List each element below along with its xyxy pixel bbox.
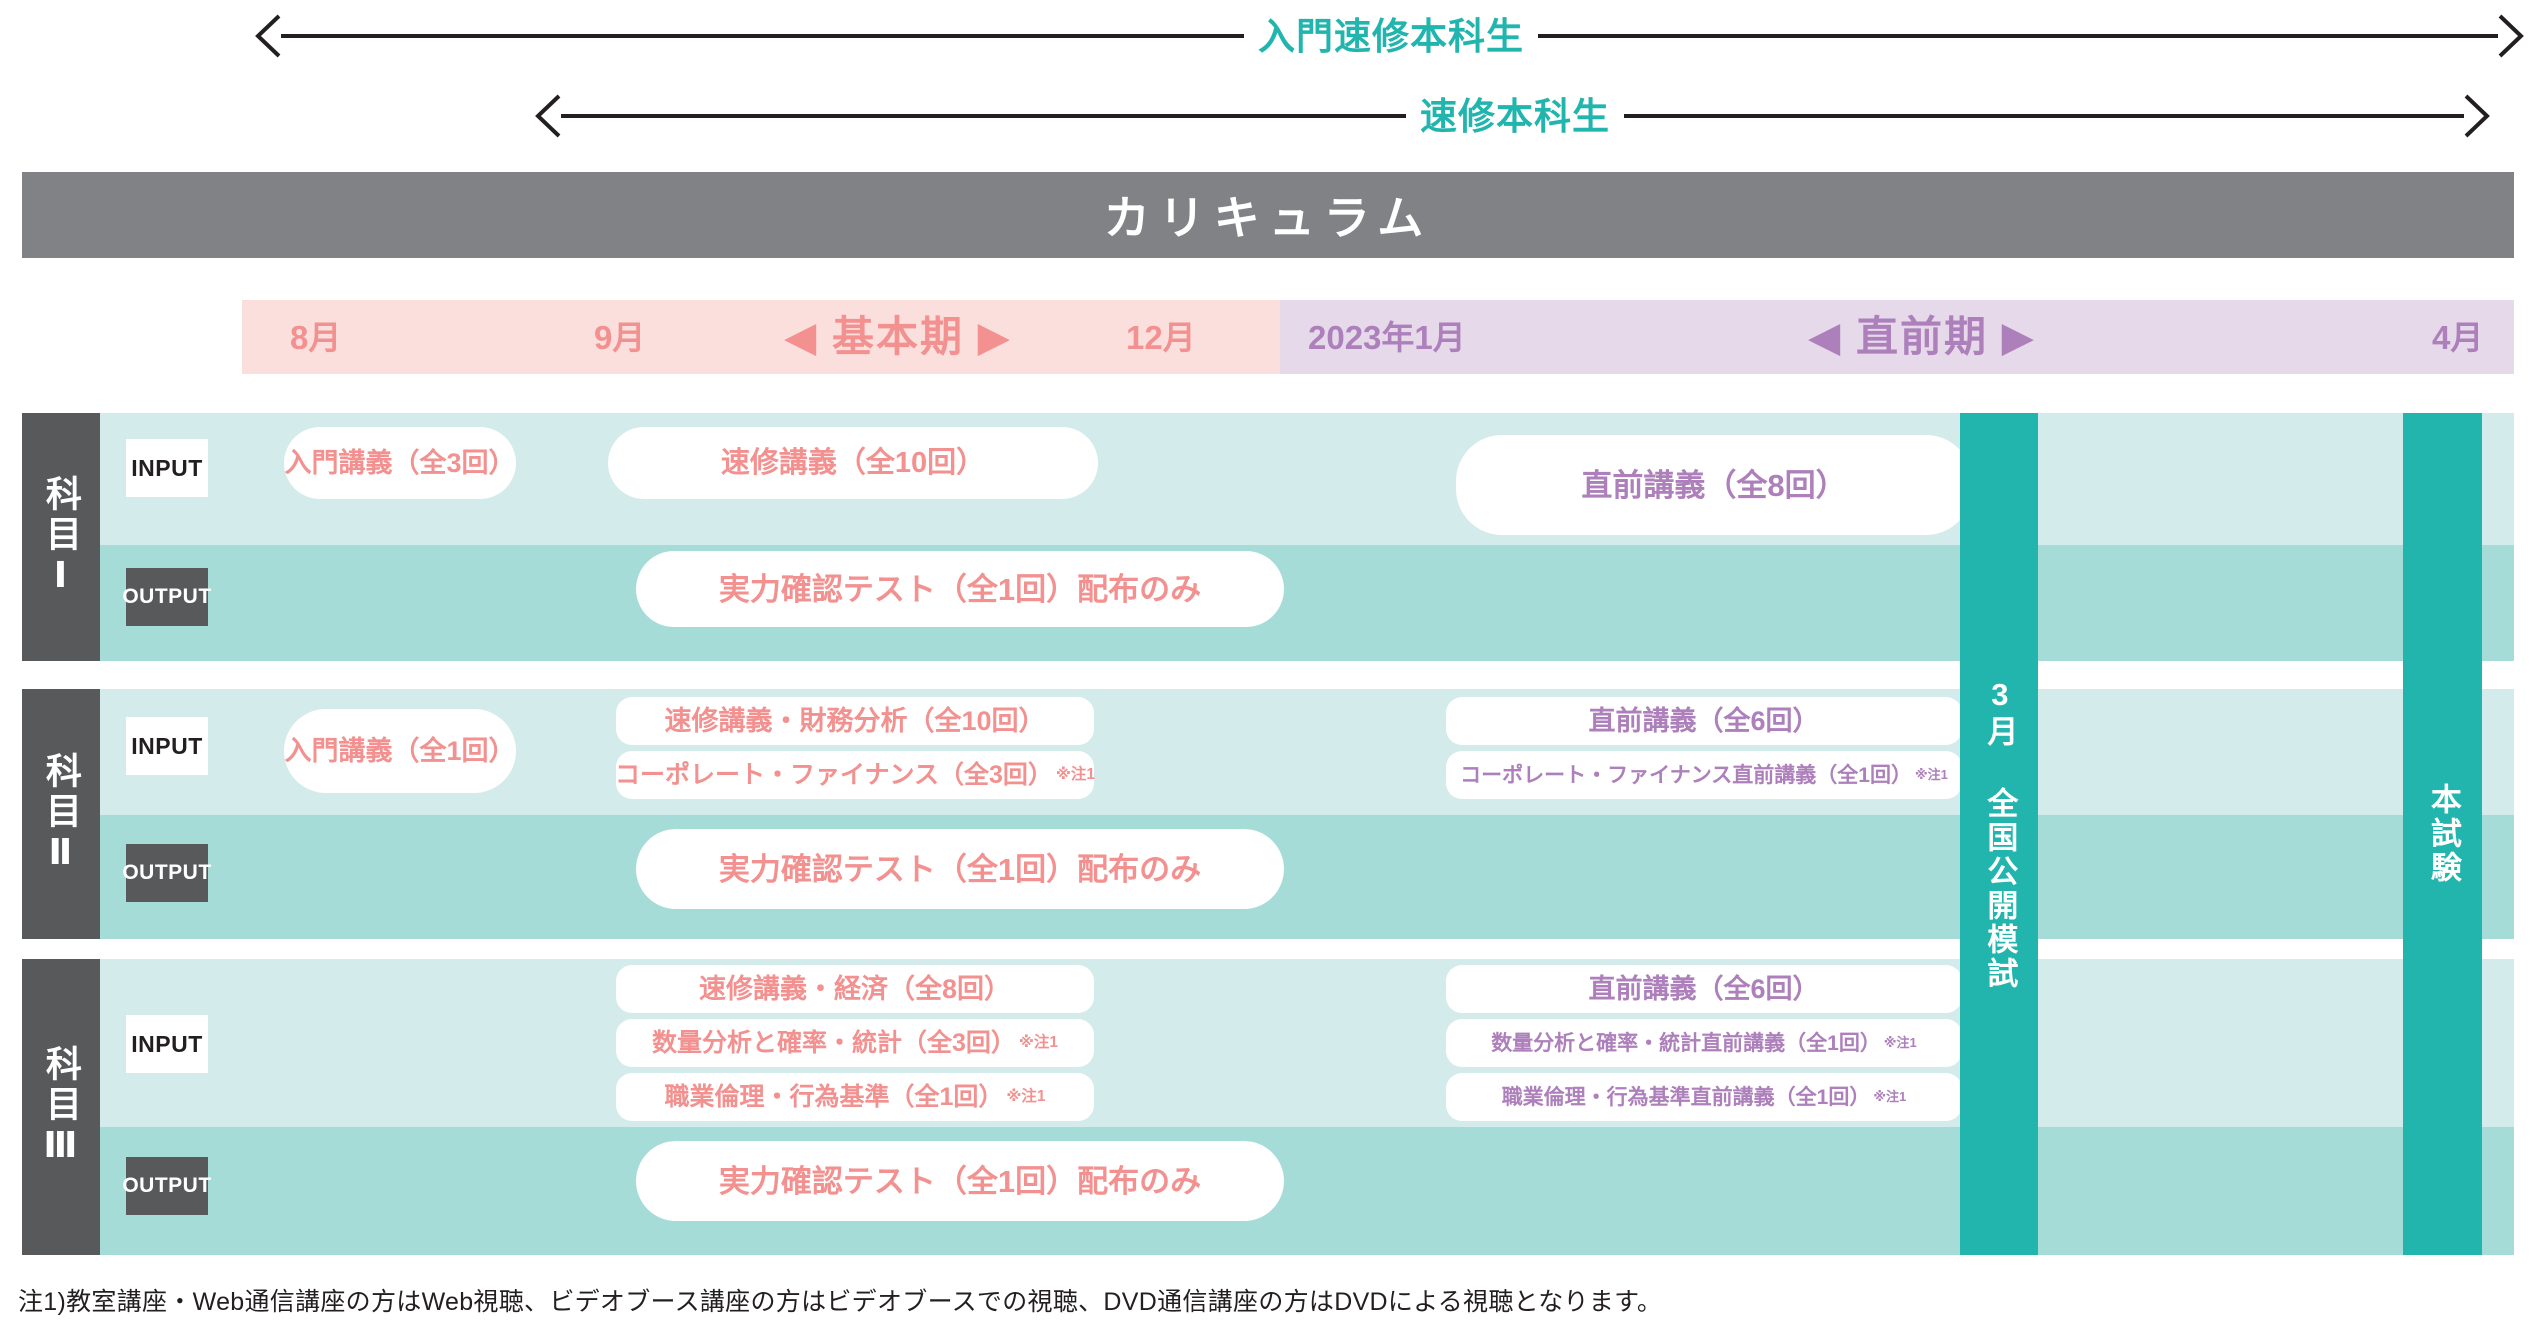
- output-tag-3: OUTPUT: [126, 1157, 208, 1215]
- pill-input-1-2: 速修講義（全10回）: [608, 427, 1098, 499]
- output-strip-3: [100, 1127, 2514, 1255]
- arrow-right-head-icon: [2464, 94, 2490, 138]
- arrow-line-left: [281, 34, 1244, 38]
- course-span-arrow-sokushu: 速修本科生: [535, 88, 2523, 144]
- pill-note-3-6: ※注1: [1870, 1090, 1906, 1103]
- curriculum-diagram: 入門速修本科生 速修本科生 カリキュラム 8月 9月 ◀ 基本期 ▶ 12月 2…: [0, 0, 2536, 1337]
- pill-input-2-1: 入門講義（全1回）: [284, 709, 516, 793]
- arrow-line-left: [561, 114, 1406, 118]
- arrow-left-head-icon: [535, 94, 561, 138]
- pill-note-2-3: ※注1: [1053, 767, 1095, 783]
- pill-input-2-5: コーポレート・ファイナンス直前講義（全1回）※注1: [1446, 751, 1962, 799]
- month-label-2023-1: 2023年1月: [1308, 321, 1466, 354]
- period-band-final: 2023年1月 ◀ 直前期 ▶ 4月: [1280, 300, 2514, 374]
- pill-output-1-1: 実力確認テスト（全1回）配布のみ: [636, 551, 1284, 627]
- pill-output-3-1: 実力確認テスト（全1回）配布のみ: [636, 1141, 1284, 1221]
- pill-input-3-5: 数量分析と確率・統計直前講義（全1回）※注1: [1446, 1019, 1962, 1067]
- output-strip-1: [100, 545, 2514, 661]
- pill-note-2-5: ※注1: [1912, 768, 1948, 781]
- course-label-sokushu: 速修本科生: [1406, 98, 1624, 135]
- output-tag-1: OUTPUT: [126, 568, 208, 626]
- input-tag-3: INPUT: [126, 1015, 208, 1073]
- subject-row-1: 科目Ⅰ INPUT OUTPUT 入門講義（全3回） 速修講義（全10回） 直前…: [22, 413, 2514, 661]
- subject-label-2: 科目Ⅱ: [42, 752, 80, 877]
- subject-row-2: 科目Ⅱ INPUT OUTPUT 入門講義（全1回） 速修講義・財務分析（全10…: [22, 689, 2514, 939]
- event-label-zenkoku-moshi: 3月 全国公開模試: [1980, 677, 2019, 991]
- pill-input-3-3: 職業倫理・行為基準（全1回）※注1: [616, 1073, 1094, 1121]
- pill-note-3-2: ※注1: [1016, 1035, 1058, 1051]
- period-label-basic: ◀ 基本期 ▶: [784, 316, 1012, 358]
- arrow-right-head-icon: [2498, 14, 2524, 58]
- input-strip-3: [100, 959, 2514, 1127]
- output-strip-2: [100, 815, 2514, 939]
- subject-sidebar-2: 科目Ⅱ: [22, 689, 100, 939]
- input-tag-2: INPUT: [126, 717, 208, 775]
- period-band-basic: 8月 9月 ◀ 基本期 ▶ 12月: [242, 300, 1280, 374]
- footnote: 注1)教室講座・Web通信講座の方はWeb視聴、ビデオブース講座の方はビデオブー…: [18, 1282, 1662, 1318]
- pill-input-3-2: 数量分析と確率・統計（全3回）※注1: [616, 1019, 1094, 1067]
- input-tag-1: INPUT: [126, 439, 208, 497]
- pill-input-1-1: 入門講義（全3回）: [284, 427, 516, 499]
- event-column-honshiken: 本試験: [2403, 413, 2482, 1255]
- pill-input-1-3: 直前講義（全8回）: [1456, 435, 1972, 535]
- pill-input-2-3: コーポレート・ファイナンス（全3回）※注1: [616, 751, 1094, 799]
- subject-sidebar-1: 科目Ⅰ: [22, 413, 100, 661]
- month-label-4: 4月: [2432, 321, 2483, 354]
- arrow-line-right: [1624, 114, 2464, 118]
- arrow-left-head-icon: [255, 14, 281, 58]
- subject-row-3: 科目Ⅲ INPUT OUTPUT 速修講義・経済（全8回） 数量分析と確率・統計…: [22, 959, 2514, 1255]
- pill-note-3-3: ※注1: [1003, 1089, 1045, 1105]
- pill-input-2-2: 速修講義・財務分析（全10回）: [616, 697, 1094, 745]
- pill-input-2-4: 直前講義（全6回）: [1446, 697, 1962, 745]
- subject-label-3: 科目Ⅲ: [42, 1045, 80, 1170]
- period-label-final: ◀ 直前期 ▶: [1808, 316, 2036, 358]
- course-label-nyumon: 入門速修本科生: [1244, 18, 1538, 55]
- arrow-line-right: [1538, 34, 2498, 38]
- pill-input-3-6: 職業倫理・行為基準直前講義（全1回）※注1: [1446, 1073, 1962, 1121]
- page-title-bar: カリキュラム: [22, 172, 2514, 258]
- month-label-8: 8月: [290, 321, 341, 354]
- month-label-12: 12月: [1126, 321, 1196, 354]
- subject-label-1: 科目Ⅰ: [42, 475, 80, 600]
- course-span-arrow-nyumon: 入門速修本科生: [255, 8, 2523, 64]
- subject-sidebar-3: 科目Ⅲ: [22, 959, 100, 1255]
- event-label-honshiken: 本試験: [2423, 783, 2462, 885]
- pill-output-2-1: 実力確認テスト（全1回）配布のみ: [636, 829, 1284, 909]
- pill-note-3-5: ※注1: [1881, 1036, 1917, 1049]
- page-title: カリキュラム: [1104, 182, 1433, 248]
- event-column-zenkoku-moshi: 3月 全国公開模試: [1960, 413, 2038, 1255]
- pill-input-3-1: 速修講義・経済（全8回）: [616, 965, 1094, 1013]
- pill-input-3-4: 直前講義（全6回）: [1446, 965, 1962, 1013]
- month-label-9: 9月: [594, 321, 645, 354]
- output-tag-2: OUTPUT: [126, 844, 208, 902]
